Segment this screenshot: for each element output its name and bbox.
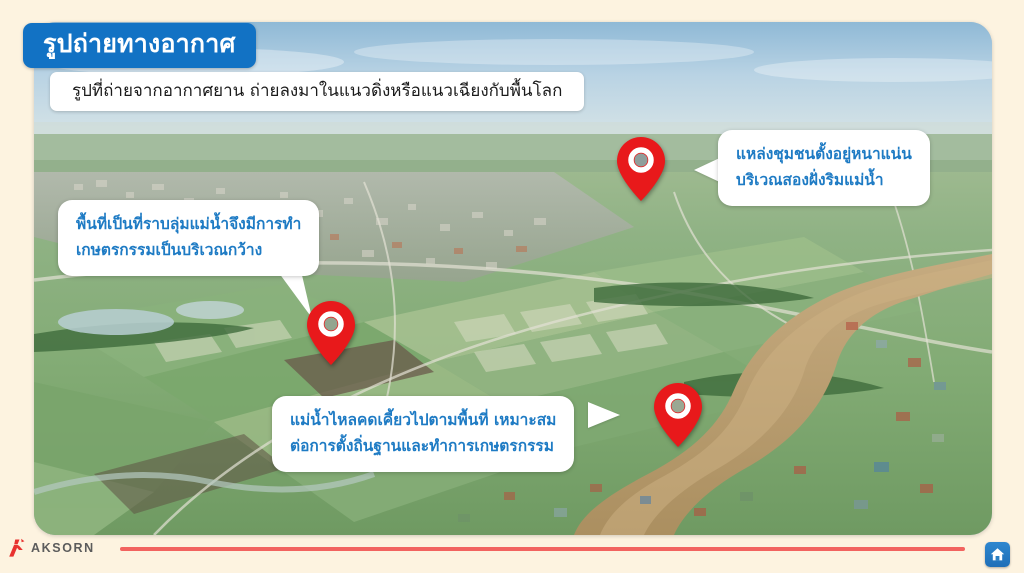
footer-rule <box>120 547 965 551</box>
map-pin-settlement[interactable] <box>616 136 666 202</box>
callout-settlement-line1: แหล่งชุมชนตั้งอยู่หนาแน่น <box>736 142 912 168</box>
callout-floodplain: พื้นที่เป็นที่ราบลุ่มแม่น้ำจึงมีการทำ เก… <box>58 200 319 276</box>
callout-settlement: แหล่งชุมชนตั้งอยู่หนาแน่น บริเวณสองฝั่งร… <box>718 130 930 206</box>
callout-meander-line2: ต่อการตั้งถิ่นฐานและทำการเกษตรกรรม <box>290 434 556 460</box>
footer: AKSORN <box>0 533 1024 573</box>
callout-settlement-line2: บริเวณสองฝั่งริมแม่น้ำ <box>736 168 912 194</box>
slide-subtitle: รูปที่ถ่ายจากอากาศยาน ถ่ายลงมาในแนวดิ่งห… <box>50 72 584 111</box>
callout-tail-meander <box>588 402 620 428</box>
callout-meander: แม่น้ำไหลคดเคี้ยวไปตามพื้นที่ เหมาะสม ต่… <box>272 396 574 472</box>
callout-floodplain-line1: พื้นที่เป็นที่ราบลุ่มแม่น้ำจึงมีการทำ <box>76 212 301 238</box>
slide-canvas: รูปถ่ายทางอากาศ รูปที่ถ่ายจากอากาศยาน ถ่… <box>0 0 1024 573</box>
callout-floodplain-line2: เกษตรกรรมเป็นบริเวณกว้าง <box>76 238 301 264</box>
aksorn-mark-icon <box>8 538 26 558</box>
callout-meander-line1: แม่น้ำไหลคดเคี้ยวไปตามพื้นที่ เหมาะสม <box>290 408 556 434</box>
brand-logo: AKSORN <box>8 538 95 558</box>
slide-title: รูปถ่ายทางอากาศ <box>23 23 256 68</box>
brand-name: AKSORN <box>31 541 95 555</box>
home-button[interactable] <box>985 542 1010 567</box>
home-icon <box>989 546 1006 563</box>
map-pin-meander[interactable] <box>653 382 703 448</box>
map-pin-floodplain[interactable] <box>306 300 356 366</box>
